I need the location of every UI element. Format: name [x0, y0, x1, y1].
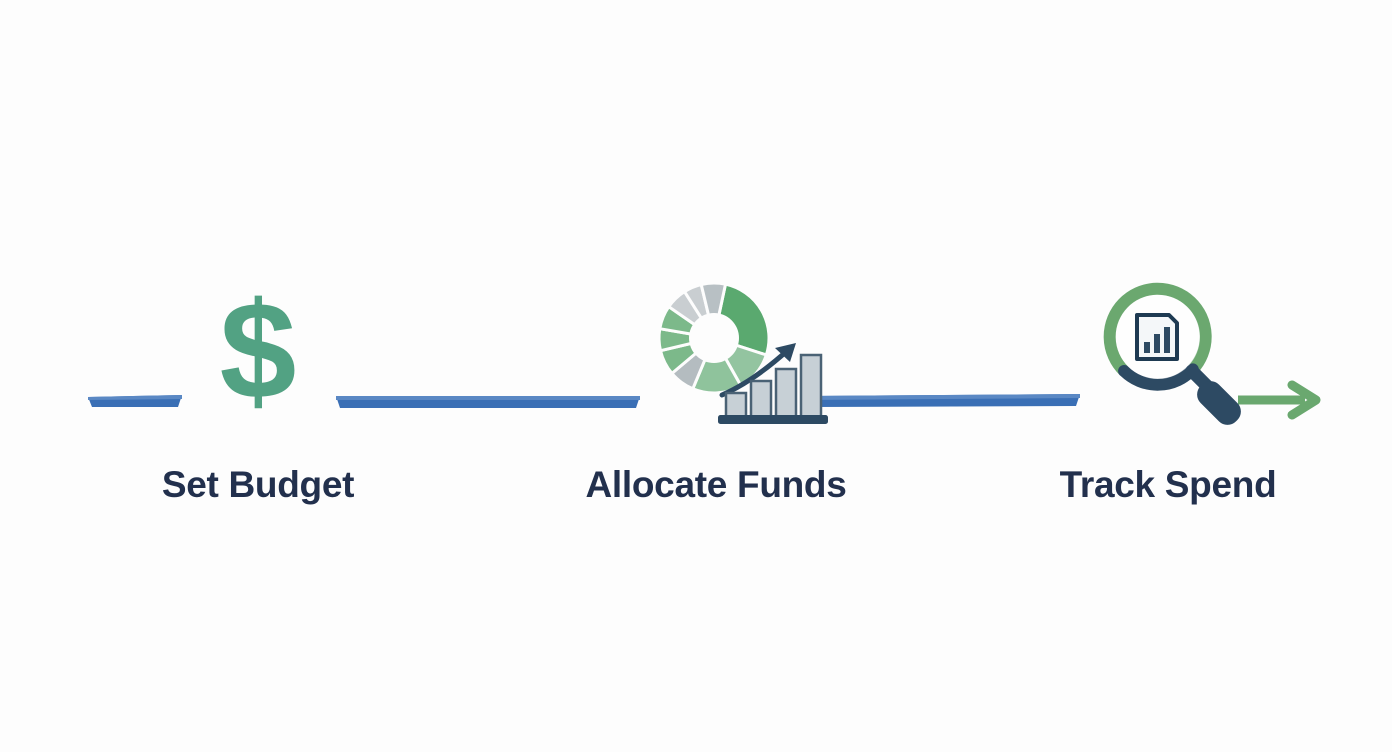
connector-end-arrow: [1238, 385, 1316, 415]
connector-start-stub: [88, 395, 182, 407]
svg-text:$: $: [220, 274, 297, 428]
process-flow-diagram: $: [0, 0, 1392, 752]
report-document-icon: [1137, 315, 1177, 359]
connector-step1-step2: [336, 396, 640, 408]
magnifier-report-icon: [1110, 289, 1246, 430]
step-label-set-budget: Set Budget: [162, 464, 354, 506]
step-label-allocate-funds: Allocate Funds: [586, 464, 847, 506]
dollar-sign-icon: $: [220, 274, 297, 428]
connector-step2-step3: [808, 394, 1080, 407]
step-label-track-spend: Track Spend: [1060, 464, 1277, 506]
